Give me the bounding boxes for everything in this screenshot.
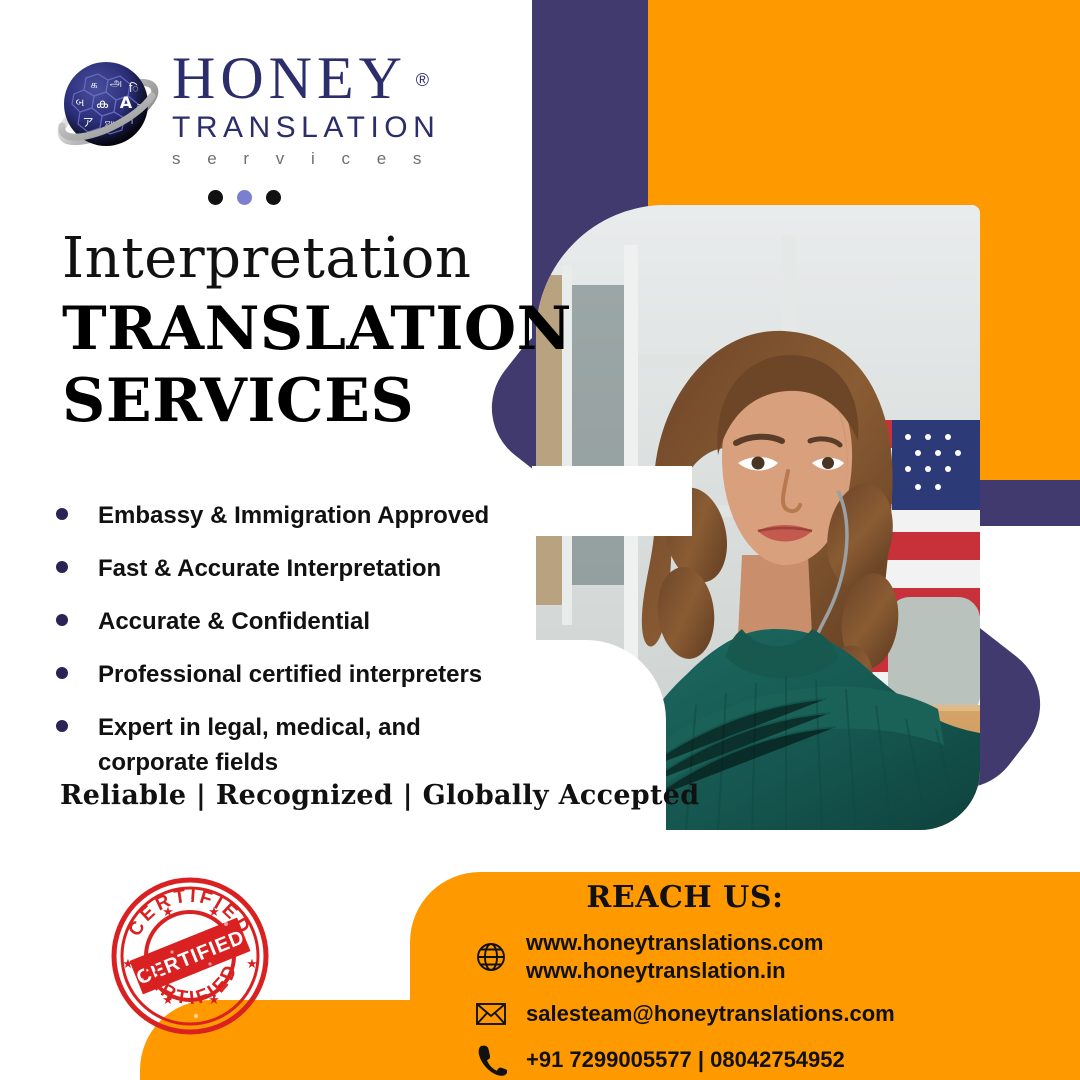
decorative-dots xyxy=(208,190,281,205)
dot-2 xyxy=(237,190,252,205)
list-item-label: Fast & Accurate Interpretation xyxy=(98,551,441,586)
bullet-icon xyxy=(56,561,68,573)
logo-wordmark-primary: HONEY® xyxy=(172,46,407,110)
bullet-icon xyxy=(56,614,68,626)
list-item-label: Expert in legal, medical, and corporate … xyxy=(98,710,458,780)
contact-section: REACH US: www.honeytranslations.com www.… xyxy=(470,880,1070,1077)
contact-row-email[interactable]: salesteam@honeytranslations.com xyxy=(470,999,1070,1029)
contact-row-phone[interactable]: +91 7299005577 | 08042754952 xyxy=(470,1043,1070,1077)
svg-text:அ: அ xyxy=(110,76,122,89)
svg-text:★: ★ xyxy=(162,993,174,1008)
list-item: Professional certified interpreters xyxy=(56,657,536,692)
contact-email[interactable]: salesteam@honeytranslations.com xyxy=(526,1000,895,1028)
svg-text:બ: બ xyxy=(76,96,85,109)
list-item: Accurate & Confidential xyxy=(56,604,536,639)
svg-text:ക: ക xyxy=(96,97,109,112)
headline-bold-line-1: TRANSLATION xyxy=(62,296,532,362)
svg-text:★: ★ xyxy=(122,957,134,972)
contact-heading: REACH US: xyxy=(470,880,900,915)
phone-icon xyxy=(470,1043,512,1077)
svg-text:★: ★ xyxy=(246,957,258,972)
logo-wordmark-tertiary: s e r v i c e s xyxy=(172,146,472,172)
purple-shape-notch xyxy=(532,466,692,536)
svg-text:க: க xyxy=(90,78,97,91)
list-item-label: Embassy & Immigration Approved xyxy=(98,498,489,533)
headline-script-line: Interpretation xyxy=(62,228,532,290)
dot-3 xyxy=(266,190,281,205)
flyer-canvas: க அ ि બ ക A ह ア ଆ স HONEY® TRANSLATION xyxy=(0,0,1080,1080)
globe-languages-icon: க அ ि બ ക A ह ア ଆ স xyxy=(52,52,164,164)
registered-trademark-icon: ® xyxy=(416,48,429,112)
bullet-icon xyxy=(56,720,68,732)
logo-wordmark-secondary: TRANSLATION xyxy=(172,110,472,146)
tagline: Reliable | Recognized | Globally Accepte… xyxy=(60,780,699,811)
list-item-label: Professional certified interpreters xyxy=(98,657,482,692)
brand-logo[interactable]: க அ ि બ ക A ह ア ଆ স HONEY® TRANSLATION xyxy=(52,46,472,176)
list-item: Embassy & Immigration Approved xyxy=(56,498,536,533)
contact-website[interactable]: www.honeytranslations.com www.honeytrans… xyxy=(526,929,823,985)
list-item: Fast & Accurate Interpretation xyxy=(56,551,536,586)
svg-text:★: ★ xyxy=(162,905,174,920)
contact-phone[interactable]: +91 7299005577 | 08042754952 xyxy=(526,1046,845,1074)
svg-text:★: ★ xyxy=(208,993,220,1008)
website-line-2[interactable]: www.honeytranslation.in xyxy=(526,957,823,985)
certified-stamp-icon: CERTIFIED CERTIFIED CERTIFIED ★★ ★★ ★★ xyxy=(106,872,274,1040)
bullet-icon xyxy=(56,508,68,520)
svg-text:★: ★ xyxy=(208,905,220,920)
dot-1 xyxy=(208,190,223,205)
headline-bold-line-2: SERVICES xyxy=(62,368,532,434)
svg-text:ア: ア xyxy=(83,116,94,129)
list-item: Expert in legal, medical, and corporate … xyxy=(56,710,536,780)
contact-row-website[interactable]: www.honeytranslations.com www.honeytrans… xyxy=(470,929,1070,985)
page-title: Interpretation TRANSLATION SERVICES xyxy=(62,228,532,434)
bullet-icon xyxy=(56,667,68,679)
list-item-label: Accurate & Confidential xyxy=(98,604,370,639)
logo-honey-text: HONEY xyxy=(172,45,407,111)
envelope-icon xyxy=(470,999,512,1029)
feature-list: Embassy & Immigration Approved Fast & Ac… xyxy=(56,498,536,798)
globe-icon xyxy=(470,940,512,974)
website-line-1[interactable]: www.honeytranslations.com xyxy=(526,929,823,957)
svg-text:A: A xyxy=(120,93,133,112)
